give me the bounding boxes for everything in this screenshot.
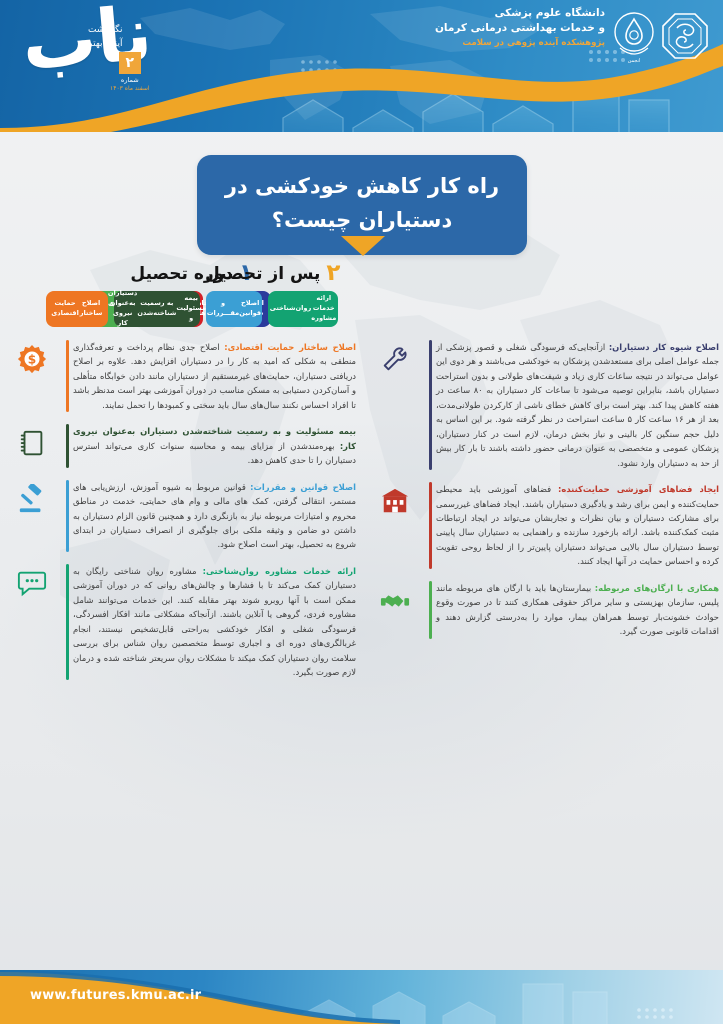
block-heading: اصلاح شیوه کار دستیاران: [609,342,719,352]
issue-label: شماره [110,76,150,84]
brand-subtitle: نگـــاشت آینده بهتر [88,24,123,52]
block-body: مشاوره روان شناختی رایگان به دستیاران کم… [73,566,356,677]
university-line-1: دانشگاه علوم پزشکی [435,6,605,21]
block-text: همکاری با ارگان‌های مربوطه: بیمارستان‌ها… [432,581,719,639]
badge-2-4[interactable]: ارائه خدمات مشاورهروان‌شناختی [268,291,338,327]
section-heading-2: ۲ پس از تحصیل [205,262,340,285]
chat-bubble-icon [6,564,58,680]
university-title: دانشگاه علوم پزشکی و خدمات بهداشتی درمان… [435,6,605,50]
block-text: بیمه مسئولیت و به رسمیت شناخته‌شدن دستیا… [69,424,356,467]
footer-website-url[interactable]: www.futures.kmu.ac.ir [30,988,201,1003]
title-arrow-icon [341,236,385,256]
block-accent-bar [66,564,69,680]
title-line-2: دستیاران چیست؟ [219,204,505,238]
block-body: بهره‌مندشدن از مزایای بیمه و محاسبه سنوا… [73,441,356,465]
block-body: اصلاح جدی نظام پرداخت و تعرفه‌گذاری منطق… [73,342,356,410]
badge-2-3[interactable]: اصلاح قوانینو مقـــررات [206,291,262,327]
block-heading: ارائه خدمات مشاوره روان‌شناختی: [203,566,356,576]
block-accent-bar [429,340,432,470]
block-body: ازآنجایی‌که فرسودگی شغلی و قصور پزشکی از… [436,342,719,468]
issue-date: اسفند ماه ۱۴۰۳ [110,85,150,92]
content-block: ارائه خدمات مشاوره روان‌شناختی: مشاوره ر… [6,564,356,680]
brand-block: ناب نگـــاشت آینده بهتر ۲ شماره اسفند ما… [14,4,194,114]
badge-label-line: اصلاح قوانین [239,299,261,319]
wrench-icon [369,340,421,470]
badge-label-line: بیمه مسئولیت و [176,294,206,324]
title-line-1: راه کار کاهش خودکشی در [219,170,505,204]
content-block: اصلاح ساختار حمایت اقتصادی: اصلاح جدی نظ… [6,340,356,412]
school-building-icon [369,482,421,569]
section-2-badges: اصلاح ساختارحمایت اقتصادیبیمه مسئولیت وب… [46,291,338,327]
badge-label-line: به رسمیت شناخته‌شدن [137,299,176,319]
section-2-label: پس از تحصیل [205,264,320,284]
handshake-icon [369,581,421,639]
block-accent-bar [66,424,69,467]
brand-sub-line-1: نگـــاشت [88,24,123,38]
badge-label-line: و مقـــررات [207,299,239,319]
badge-label-line: حمایت اقتصادی [51,299,79,319]
content-block: اصلاح قوانین و مقررات: قوانین مربوط به ش… [6,480,356,552]
block-heading: همکاری با ارگان‌های مربوطه: [595,583,719,593]
university-emblem-icon [661,8,709,70]
block-heading: ایجاد فضاهای آموزشی حمایت‌کننده: [558,484,719,494]
university-line-2: و خدمات بهداشتی درمانی کرمان [435,21,605,36]
block-text: اصلاح قوانین و مقررات: قوانین مربوط به ش… [69,480,356,552]
section-2-content: اصلاح ساختار حمایت اقتصادی: اصلاح جدی نظ… [6,340,356,692]
poster-footer: www.futures.kmu.ac.ir [0,970,723,1024]
block-accent-bar [66,340,69,412]
section-1-content: اصلاح شیوه کار دستیاران: ازآنجایی‌که فرس… [369,340,719,651]
content-block: همکاری با ارگان‌های مربوطه: بیمارستان‌ها… [369,581,719,639]
infographic-poster: انجمن دانشگاه علوم پزشکی و خدمات بهداشتی… [0,0,723,1024]
gavel-icon [6,480,58,552]
svg-text:$: $ [28,353,36,367]
content-block: بیمه مسئولیت و به رسمیت شناخته‌شدن دستیا… [6,424,356,467]
block-accent-bar [66,480,69,552]
notebook-icon [6,424,58,467]
svg-text:انجمن: انجمن [628,58,641,64]
gear-dollar-icon: $ [6,340,58,412]
poster-header: انجمن دانشگاه علوم پزشکی و خدمات بهداشتی… [0,0,723,132]
badge-2-2[interactable]: بیمه مسئولیت وبه رسمیت شناخته‌شدندستیارا… [114,291,200,327]
badge-label-line: روان‌شناختی [270,304,312,314]
brand-sub-line-2: آینده بهتر [88,38,123,52]
issue-number: ۲ [119,52,141,74]
block-heading: اصلاح ساختار حمایت اقتصادی: [224,342,356,352]
block-text: اصلاح ساختار حمایت اقتصادی: اصلاح جدی نظ… [69,340,356,412]
badge-label-line: اصلاح ساختار [79,299,103,319]
block-text: ارائه خدمات مشاوره روان‌شناختی: مشاوره ر… [69,564,356,680]
institute-name: پژوهشکده آینده پژوهی در سلامت [435,37,605,49]
badge-2-1[interactable]: اصلاح ساختارحمایت اقتصادی [46,291,108,327]
section-2-number: ۲ [326,262,340,285]
block-heading: اصلاح قوانین و مقررات: [250,482,356,492]
block-text: اصلاح شیوه کار دستیاران: ازآنجایی‌که فرس… [432,340,719,470]
block-body: فضاهای آموزشی باید محیطی حمایت‌کننده و ا… [436,484,719,566]
badge-label-line: ارائه خدمات مشاوره [311,294,336,324]
block-accent-bar [429,482,432,569]
badge-label-line: دستیاران به‌عنوان نیروی کار [108,289,137,329]
content-block: ایجاد فضاهای آموزشی حمایت‌کننده: فضاهای … [369,482,719,569]
content-block: اصلاح شیوه کار دستیاران: ازآنجایی‌که فرس… [369,340,719,470]
kmu-logo-icon: انجمن [611,8,657,66]
block-text: ایجاد فضاهای آموزشی حمایت‌کننده: فضاهای … [432,482,719,569]
block-accent-bar [429,581,432,639]
issue-badge: ۲ شماره اسفند ماه ۱۴۰۳ [110,52,150,92]
